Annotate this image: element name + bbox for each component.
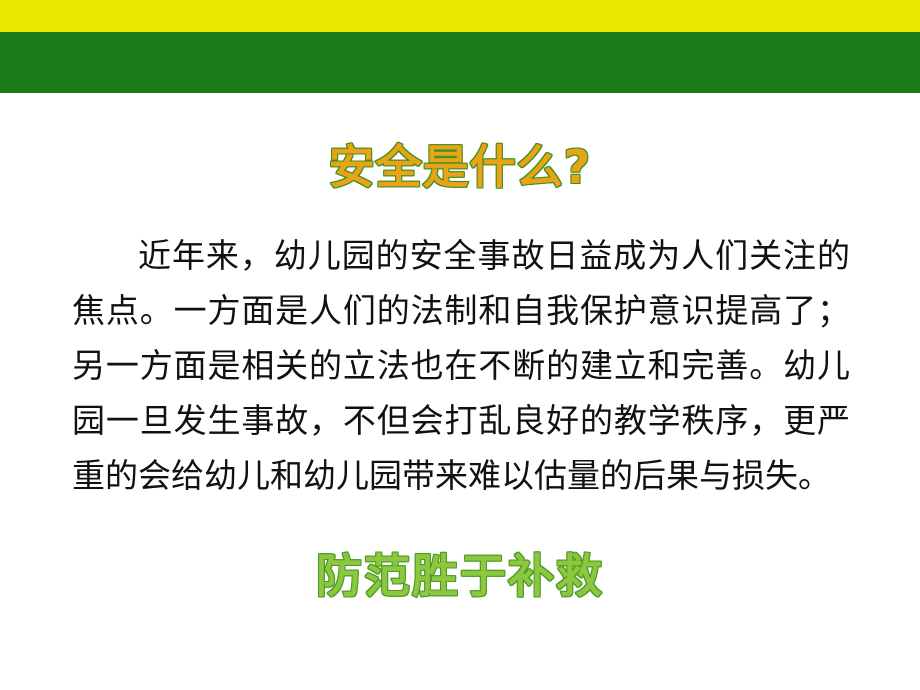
slide-headline: 安全是什么? [329,142,592,194]
slide-canvas: 安全是什么? 近年来，幼儿园的安全事故日益成为人们关注的焦点。一方面是人们的法制… [0,0,920,690]
headline-container: 安全是什么? [0,142,920,194]
footer-slogan: 防范胜于补救 [316,551,604,603]
body-paragraph: 近年来，幼儿园的安全事故日益成为人们关注的焦点。一方面是人们的法制和自我保护意识… [72,228,850,503]
footer-container: 防范胜于补救 [0,551,920,603]
green-band [0,32,920,93]
yellow-band [0,0,920,32]
